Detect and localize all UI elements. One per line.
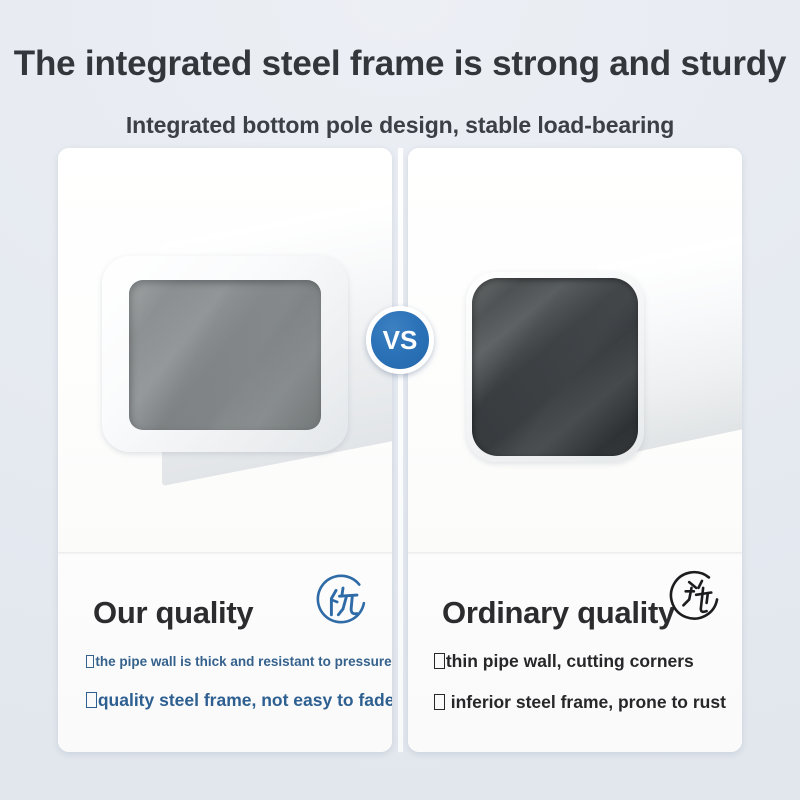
comparison-card-ordinary-quality[interactable]: Ordinary quality thin pipe wall, cutting… <box>408 148 742 752</box>
page-subtitle: Integrated bottom pole design, stable lo… <box>0 112 800 139</box>
bullet-marker-icon <box>86 655 94 667</box>
bullet-text: inferior steel frame, prone to rust <box>446 692 726 712</box>
bullet-item: thin pipe wall, cutting corners <box>434 651 694 672</box>
bullet-text: quality steel frame, not easy to fade <box>98 690 392 710</box>
quality-seal-inferior-icon <box>666 567 724 625</box>
product-photo-thick-wall-tube <box>58 148 392 552</box>
bullet-marker-icon <box>86 692 97 708</box>
vs-badge-icon: VS <box>366 306 434 374</box>
vs-divider-stem <box>398 148 403 752</box>
product-comparison-banner: The integrated steel frame is strong and… <box>0 0 800 800</box>
card-text-pane: Ordinary quality thin pipe wall, cutting… <box>408 555 742 752</box>
product-photo-thin-wall-tube <box>408 148 742 552</box>
page-title: The integrated steel frame is strong and… <box>0 44 800 84</box>
vs-badge-label: VS <box>383 327 418 353</box>
tube-inner-cavity <box>472 278 638 456</box>
bullet-marker-icon <box>434 694 445 710</box>
bullet-item: quality steel frame, not easy to fade <box>86 690 392 711</box>
bullet-marker-icon <box>434 653 445 669</box>
quality-seal-excellent-icon <box>314 573 372 631</box>
bullet-text: thin pipe wall, cutting corners <box>446 651 694 671</box>
tube-inner-cavity <box>129 280 321 430</box>
card-text-pane: Our quality the pipe wall is thick and r… <box>58 555 392 752</box>
bullet-item: the pipe wall is thick and resistant to … <box>86 654 392 669</box>
bullet-text: the pipe wall is thick and resistant to … <box>95 654 391 669</box>
card-title: Ordinary quality <box>442 595 675 631</box>
comparison-card-our-quality[interactable]: Our quality the pipe wall is thick and r… <box>58 148 392 752</box>
bullet-item: inferior steel frame, prone to rust <box>434 692 726 713</box>
card-title: Our quality <box>93 595 253 631</box>
